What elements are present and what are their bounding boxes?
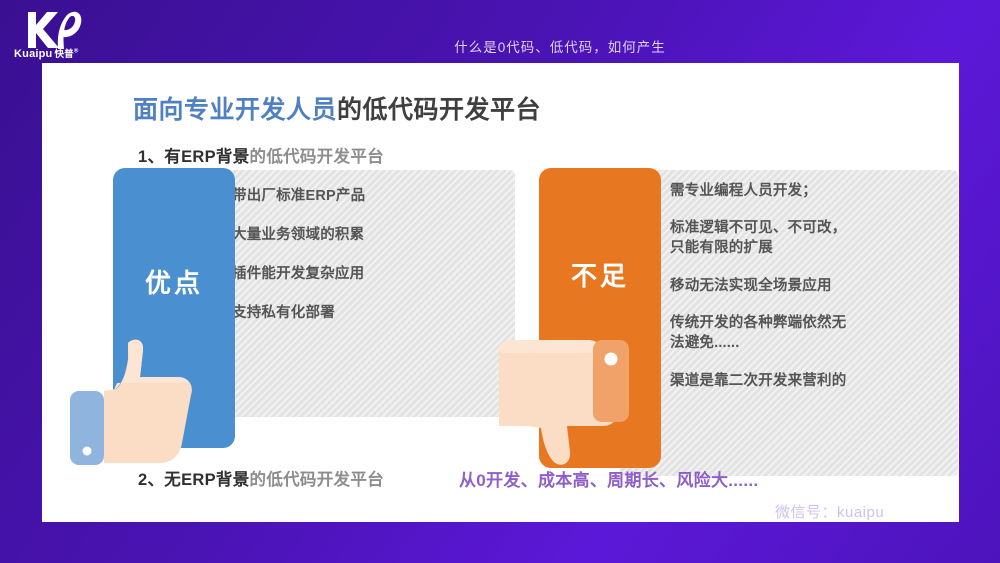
list-item: 需专业编程人员开发； [643,181,817,201]
thumbs-down-icon [497,338,657,478]
header-title: 什么是0代码、低代码，如何产生 [0,36,1000,56]
list-item-label: 带出厂标准ERP产品 [232,186,365,206]
section-heading-1-strong: 1、有ERP背景 [138,148,250,166]
section-heading-1-light: 的低代码开发平台 [250,148,384,166]
cons-bullet-panel: 需专业编程人员开发； 标准逻辑不可见、不可改， 只能有限的扩展 移动无法实现全场… [620,170,958,476]
list-item-label: 大量业务领域的积累 [232,225,364,245]
section-heading-2: 2、无ERP背景的低代码开发平台 [138,466,384,490]
thumbs-up-icon [70,333,220,468]
list-item-label: 传统开发的各种弊端依然无 法避免...... [670,313,846,353]
page-title: 面向专业开发人员的低代码开发平台 [133,90,541,126]
list-item-label: 插件能开发复杂应用 [232,264,364,284]
slide-card: 面向专业开发人员的低代码开发平台 1、有ERP背景的低代码开发平台 带出厂标准E… [42,63,959,522]
list-item-label: 支持私有化部署 [232,303,335,323]
cons-label: 不足 [539,256,661,293]
section-heading-2-light: 的低代码开发平台 [250,471,384,489]
list-item: 渠道是靠二次开发来营利的 [643,371,846,391]
watermark-text: 微信号：kuaipu [775,501,884,522]
watermark: 微信号：kuaipu [742,500,884,522]
list-item: 标准逻辑不可见、不可改， 只能有限的扩展 [643,218,846,258]
list-item-label: 渠道是靠二次开发来营利的 [670,371,846,391]
list-item: 传统开发的各种弊端依然无 法避免...... [643,313,846,353]
section-heading-2-strong: 2、无ERP背景 [138,471,250,489]
section-2-tagline: 从0开发、成本高、周期长、风险大...... [459,466,758,491]
list-item: 移动无法实现全场景应用 [643,276,832,296]
pros-label: 优点 [113,263,235,300]
list-item-label: 移动无法实现全场景应用 [670,276,832,296]
page-title-highlight: 面向专业开发人员 [133,96,337,124]
list-item-label: 需专业编程人员开发； [670,181,817,201]
wechat-icon [742,500,768,522]
cons-bullet-list: 需专业编程人员开发； 标准逻辑不可见、不可改， 只能有限的扩展 移动无法实现全场… [620,170,958,476]
page-title-rest: 的低代码开发平台 [337,96,541,124]
list-item-label: 标准逻辑不可见、不可改， 只能有限的扩展 [670,218,846,258]
section-heading-1: 1、有ERP背景的低代码开发平台 [138,143,384,167]
